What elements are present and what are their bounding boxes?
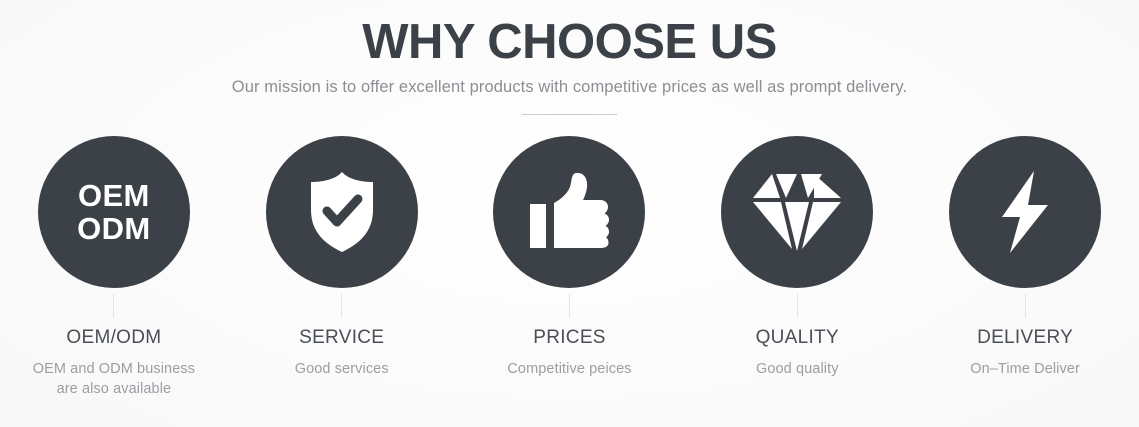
shield-check-icon bbox=[303, 170, 381, 254]
prices-circle bbox=[493, 136, 645, 288]
feature-item-delivery: DELIVERY On–Time Deliver bbox=[911, 136, 1139, 379]
feature-list: OEM ODM OEM/ODM OEM and ODM business are… bbox=[0, 136, 1139, 399]
feature-title: DELIVERY bbox=[977, 326, 1073, 350]
oem-odm-circle: OEM ODM bbox=[38, 136, 190, 288]
feature-item-oem-odm: OEM ODM OEM/ODM OEM and ODM business are… bbox=[0, 136, 228, 399]
connector-tick bbox=[1025, 294, 1026, 318]
feature-title: SERVICE bbox=[299, 326, 384, 350]
odm-label: ODM bbox=[77, 212, 151, 245]
feature-title: OEM/ODM bbox=[66, 326, 161, 350]
service-circle bbox=[266, 136, 418, 288]
page-subtitle: Our mission is to offer excellent produc… bbox=[0, 69, 1139, 98]
quality-circle bbox=[721, 136, 873, 288]
connector-tick bbox=[569, 294, 570, 318]
diamond-icon bbox=[750, 170, 844, 254]
lightning-bolt-icon bbox=[994, 169, 1056, 255]
connector-tick bbox=[341, 294, 342, 318]
connector-tick bbox=[797, 294, 798, 318]
feature-description: Competitive peices bbox=[507, 359, 631, 379]
oem-odm-text-icon: OEM ODM bbox=[77, 179, 151, 245]
feature-item-service: SERVICE Good services bbox=[228, 136, 456, 379]
feature-description: On–Time Deliver bbox=[970, 359, 1080, 379]
feature-description: Good services bbox=[295, 359, 389, 379]
feature-item-prices: PRICES Competitive peices bbox=[456, 136, 684, 379]
oem-label: OEM bbox=[77, 179, 151, 212]
section-header: WHY CHOOSE US Our mission is to offer ex… bbox=[0, 0, 1139, 115]
page-title: WHY CHOOSE US bbox=[0, 0, 1139, 69]
feature-title: PRICES bbox=[533, 326, 606, 350]
feature-item-quality: QUALITY Good quality bbox=[683, 136, 911, 379]
feature-description: OEM and ODM business are also available bbox=[33, 359, 195, 399]
delivery-circle bbox=[949, 136, 1101, 288]
why-choose-us-section: WHY CHOOSE US Our mission is to offer ex… bbox=[0, 0, 1139, 427]
feature-title: QUALITY bbox=[756, 326, 839, 350]
feature-description: Good quality bbox=[756, 359, 839, 379]
connector-tick bbox=[113, 294, 114, 318]
thumbs-up-icon bbox=[526, 171, 612, 253]
header-divider bbox=[522, 114, 617, 115]
